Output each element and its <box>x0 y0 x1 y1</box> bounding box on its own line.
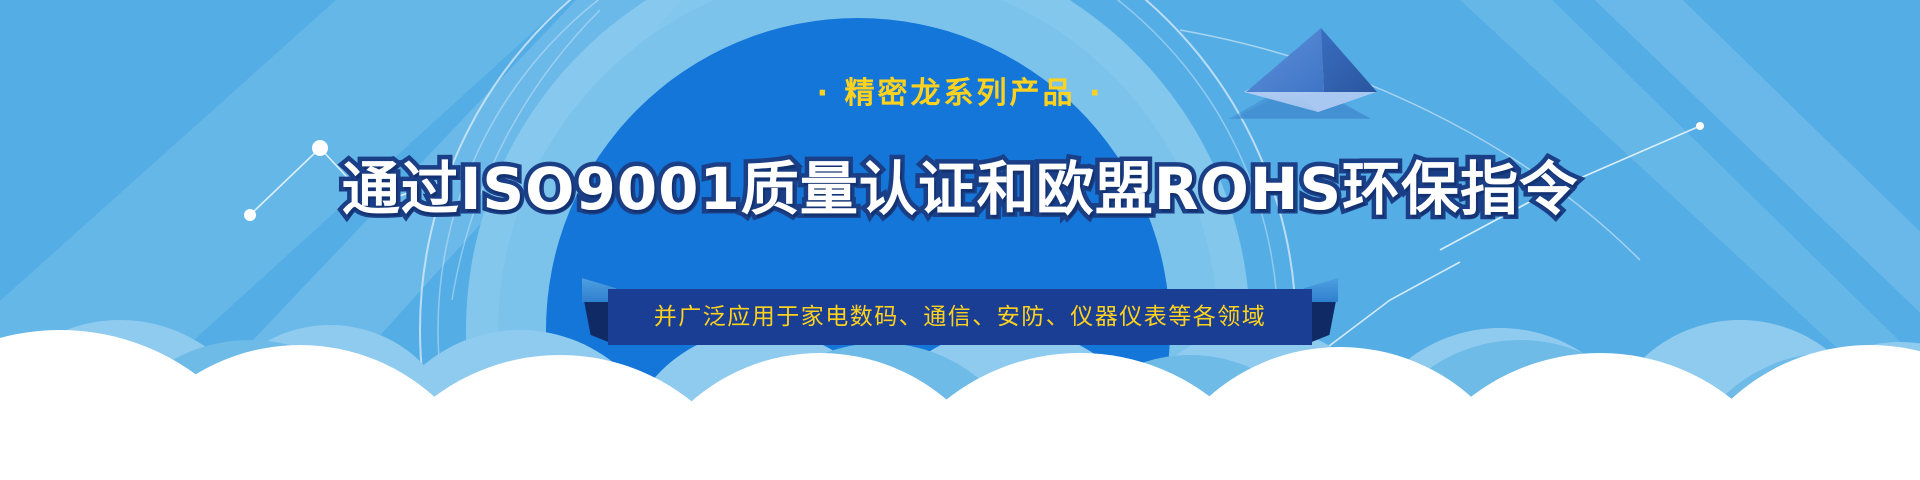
banner-background <box>0 0 1920 480</box>
promo-banner: · 精密龙系列产品 · 通过ISO9001质量认证和欧盟ROHS环保指令 并广泛… <box>0 0 1920 480</box>
